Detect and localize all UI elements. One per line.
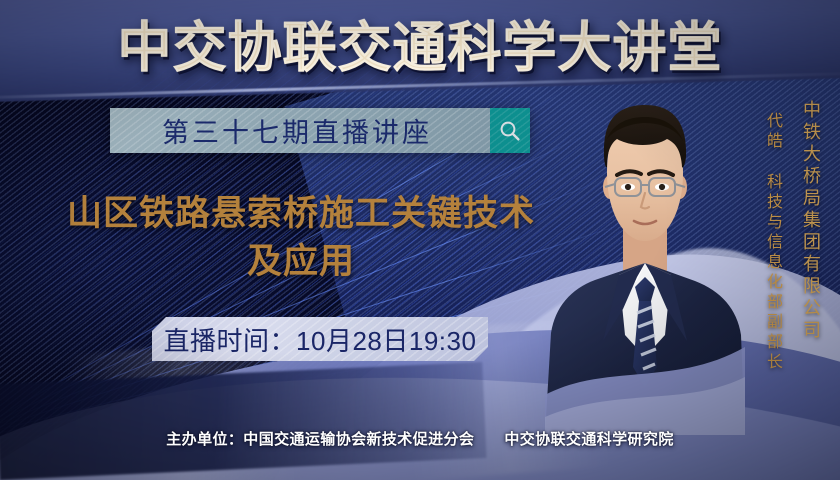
session-banner-label: 第三十七期直播讲座	[162, 111, 432, 150]
page-title: 中交协联交通科学大讲堂	[0, 18, 840, 78]
search-icon-tile[interactable]	[490, 108, 530, 153]
footer-organizer-2: 中交协联交通科学研究院	[504, 431, 673, 448]
speaker-name-title: 代皓 科技与信息化部副部长	[764, 112, 780, 373]
session-banner-label-area: 第三十七期直播讲座	[110, 108, 490, 153]
broadcast-time-label: 直播时间：10月28日19:30	[164, 321, 477, 358]
search-icon	[498, 119, 522, 143]
lecture-title-line-2: 及应用	[36, 238, 566, 286]
speaker-portrait-illustration	[545, 95, 745, 435]
footer-organizer-1: 中国交通运输协会新技术促进分会	[243, 431, 474, 448]
footer-organizers: 主办单位：中国交通运输协会新技术促进分会中交协联交通科学研究院	[0, 428, 840, 449]
speaker-company: 中铁大桥局集团有限公司	[802, 100, 820, 342]
broadcast-time-badge: 直播时间：10月28日19:30	[152, 317, 488, 361]
footer-organizer-label: 主办单位：	[166, 431, 243, 448]
lecture-title: 山区铁路悬索桥施工关键技术 及应用	[36, 190, 566, 286]
session-banner: 第三十七期直播讲座	[110, 108, 530, 153]
webinar-poster: 中交协联交通科学大讲堂 第三十七期直播讲座 山区铁路悬索桥施工关键技术 及应用 …	[0, 0, 840, 480]
lecture-title-line-1: 山区铁路悬索桥施工关键技术	[67, 194, 535, 233]
speaker-photo	[545, 95, 745, 435]
